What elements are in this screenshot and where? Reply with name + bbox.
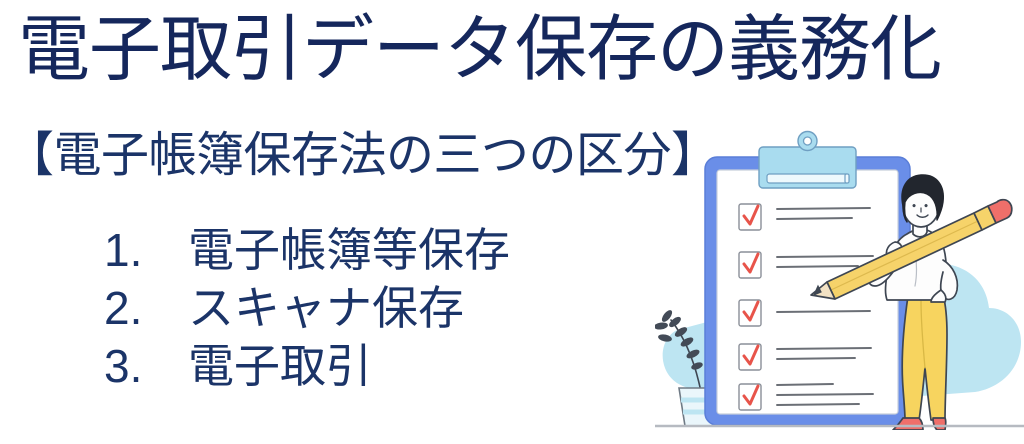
list-item-label: 電子取引 — [188, 338, 372, 396]
category-list: 1. 電子帳簿等保存 2. スキャナ保存 3. 電子取引 — [104, 222, 510, 396]
list-item-number: 3. — [104, 338, 188, 396]
list-item-number: 1. — [104, 222, 188, 280]
page-title: 電子取引データ保存の義務化 — [18, 12, 941, 90]
list-item-number: 2. — [104, 280, 188, 338]
subtitle-heading: 【電子帳簿保存法の三つの区分】 — [6, 128, 719, 183]
list-item: 2. スキャナ保存 — [104, 280, 510, 338]
checklist-illustration — [655, 130, 1024, 430]
list-item-label: スキャナ保存 — [188, 280, 464, 338]
list-item: 3. 電子取引 — [104, 338, 510, 396]
slide-canvas: 電子取引データ保存の義務化 【電子帳簿保存法の三つの区分】 1. 電子帳簿等保存… — [0, 0, 1024, 444]
list-item: 1. 電子帳簿等保存 — [104, 222, 510, 280]
clipboard-clip-icon — [759, 132, 856, 189]
list-item-label: 電子帳簿等保存 — [188, 222, 510, 280]
